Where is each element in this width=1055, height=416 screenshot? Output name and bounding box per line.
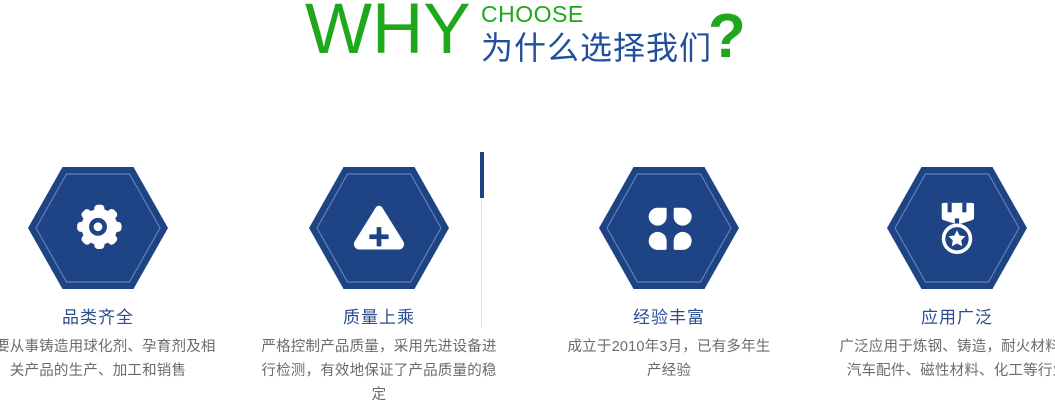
feature-columns: 品类齐全 主要从事铸造用球化剂、孕育剂及相关产品的生产、加工和销售 质量上 [0,96,1055,416]
feature-text-2: 质量上乘 严格控制产品质量，采用先进设备进行检测，有效地保证了产品质量的稳定 [247,306,511,407]
four-petal-clover-icon [598,166,740,290]
header-chinese-text: 为什么选择我们 [481,30,712,66]
feature-title-4: 应用广泛 [825,306,1055,330]
feature-text-3: 经验丰富 成立于2010年3月，已有多年生产经验 [537,306,801,383]
gear-icon [27,166,169,290]
feature-column-2: 质量上乘 严格控制产品质量，采用先进设备进行检测，有效地保证了产品质量的稳定 [247,96,511,416]
feature-body-3: 成立于2010年3月，已有多年生产经验 [537,335,801,383]
feature-body-1: 主要从事铸造用球化剂、孕育剂及相关产品的生产、加工和销售 [0,335,230,383]
header-why-text: WHY [305,0,471,65]
feature-text-1: 品类齐全 主要从事铸造用球化剂、孕育剂及相关产品的生产、加工和销售 [0,306,230,383]
divider-accent [480,152,484,198]
feature-body-4: 广泛应用于炼钢、铸造，耐火材料、汽车配件、磁性材料、化工等行业 [825,335,1055,383]
hexagon-badge-4 [886,166,1028,290]
feature-text-4: 应用广泛 广泛应用于炼钢、铸造，耐火材料、汽车配件、磁性材料、化工等行业 [825,306,1055,383]
page-header: WHY CHOOSE 为什么选择我们 ? [0,0,1055,96]
triangle-plus-icon [308,166,450,290]
feature-column-4: 应用广泛 广泛应用于炼钢、铸造，耐火材料、汽车配件、磁性材料、化工等行业 [825,96,1055,416]
hexagon-badge-3 [598,166,740,290]
hexagon-badge-2 [308,166,450,290]
header-choose-text: CHOOSE [481,2,584,26]
feature-title-3: 经验丰富 [537,306,801,330]
hexagon-badge-1 [27,166,169,290]
header-question-mark: ? [708,6,746,68]
header-title-group: WHY CHOOSE 为什么选择我们 ? [305,0,765,96]
feature-body-2: 严格控制产品质量，采用先进设备进行检测，有效地保证了产品质量的稳定 [247,335,511,407]
column-divider-1 [480,152,484,328]
feature-title-1: 品类齐全 [0,306,230,330]
medal-star-icon [886,166,1028,290]
feature-column-3: 经验丰富 成立于2010年3月，已有多年生产经验 [537,96,801,416]
feature-column-1: 品类齐全 主要从事铸造用球化剂、孕育剂及相关产品的生产、加工和销售 [0,96,230,416]
feature-title-2: 质量上乘 [247,306,511,330]
